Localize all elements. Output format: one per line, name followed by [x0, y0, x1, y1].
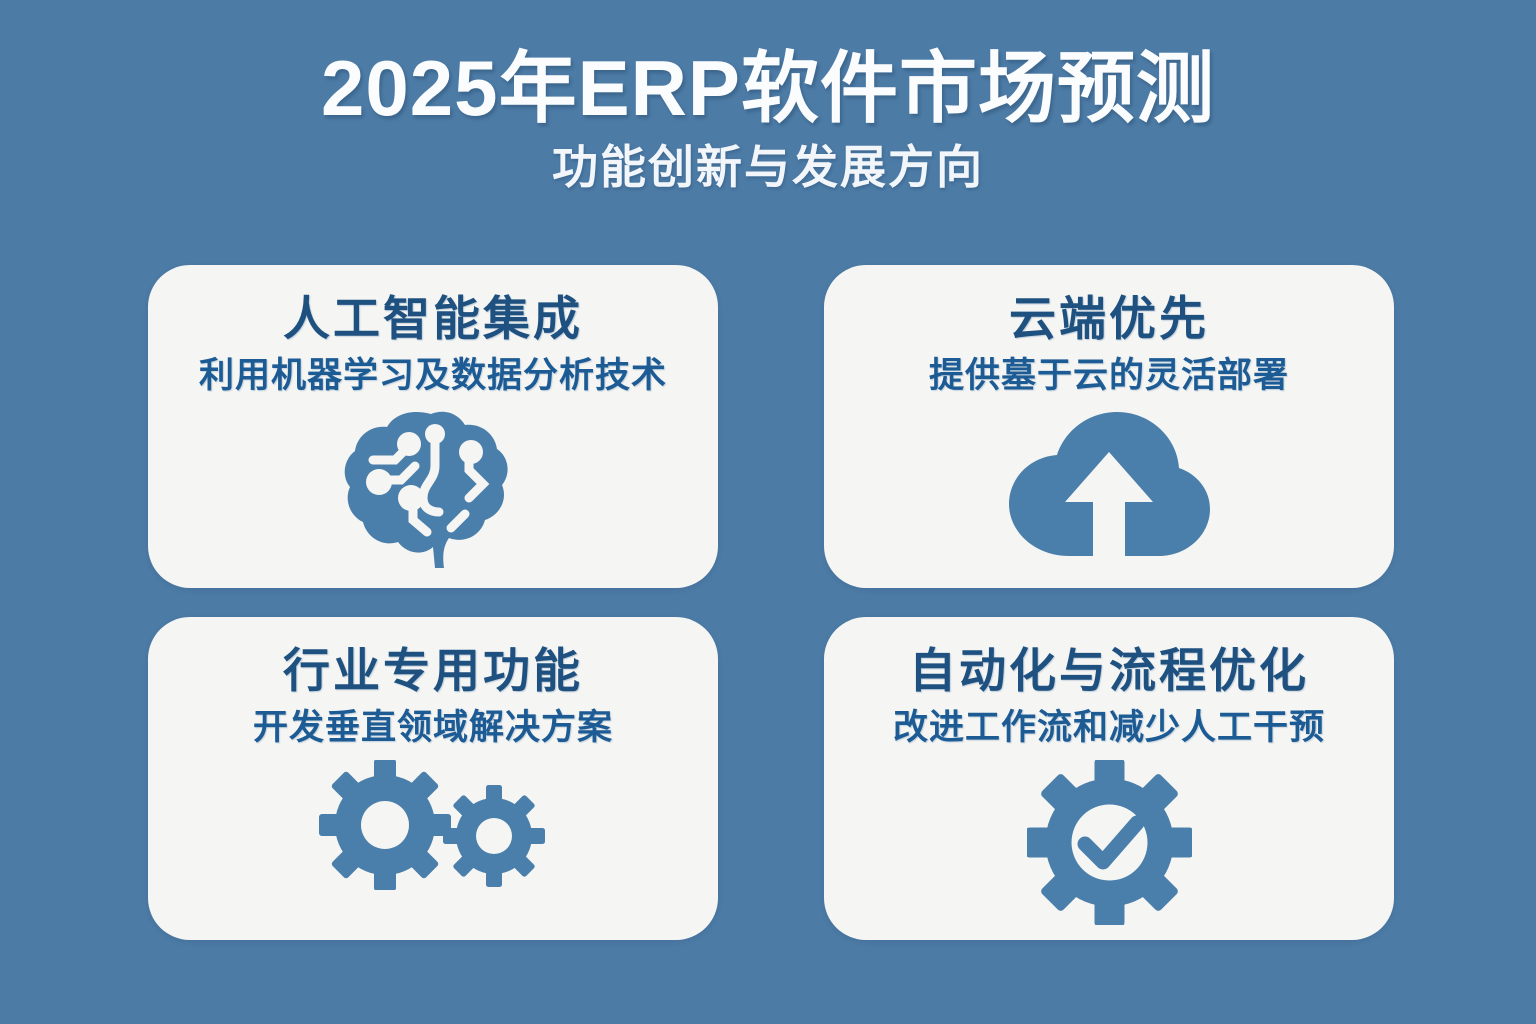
feature-card-grid: 人工智能集成 利用机器学习及数据分析技术 — [148, 265, 1394, 943]
page-title: 2025年ERP软件市场预测 — [0, 48, 1536, 129]
dual-gears-icon — [313, 760, 553, 940]
card-title: 行业专用功能 — [283, 645, 583, 698]
card-title: 自动化与流程优化 — [909, 645, 1309, 698]
gear-check-icon — [1027, 760, 1192, 940]
infographic-header: 2025年ERP软件市场预测 功能创新与发展方向 — [0, 0, 1536, 191]
page-subtitle: 功能创新与发展方向 — [0, 143, 1536, 191]
feature-card-cloud-first[interactable]: 云端优先 提供墓于云的灵活部署 — [824, 265, 1394, 588]
card-description: 开发垂直领域解决方案 — [253, 708, 613, 748]
card-description: 利用机器学习及数据分析技术 — [199, 356, 667, 396]
cloud-upload-icon — [1007, 408, 1212, 588]
feature-card-ai-integration[interactable]: 人工智能集成 利用机器学习及数据分析技术 — [148, 265, 718, 588]
card-title: 云端优先 — [1009, 293, 1209, 346]
card-description: 改进工作流和减少人工干预 — [893, 708, 1325, 748]
card-title: 人工智能集成 — [283, 293, 583, 346]
brain-circuit-icon — [343, 408, 523, 588]
feature-card-automation[interactable]: 自动化与流程优化 改进工作流和减少人工干预 — [824, 617, 1394, 940]
card-description: 提供墓于云的灵活部署 — [929, 356, 1289, 396]
feature-card-industry-specific[interactable]: 行业专用功能 开发垂直领域解决方案 — [148, 617, 718, 940]
